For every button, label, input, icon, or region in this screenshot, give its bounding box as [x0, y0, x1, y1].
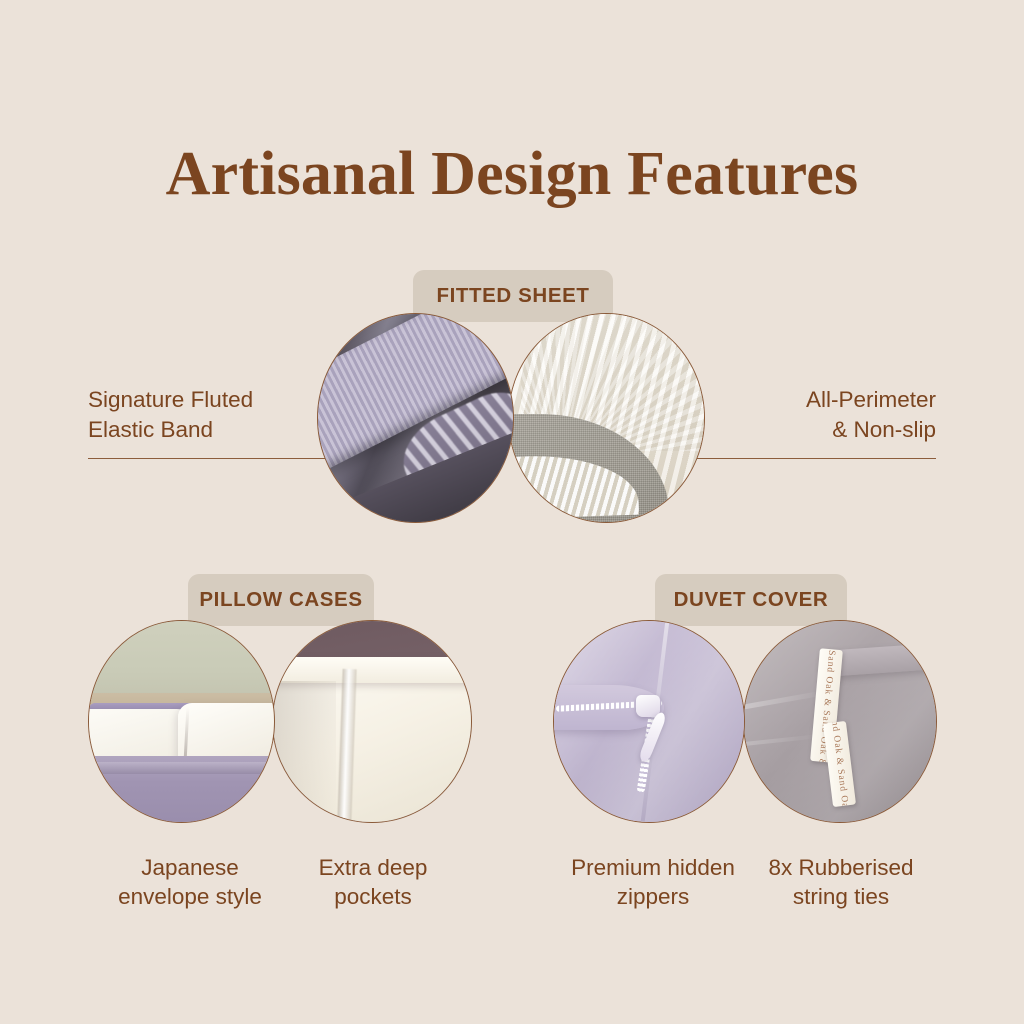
caption-premium-hidden-zippers: Premium hidden zippers [556, 853, 750, 911]
pillow-envelope-lip [272, 657, 472, 683]
photo-duvet-string-ties: Oak & Sand Oak & Sand Oak & Sand Oak & S… [743, 620, 937, 823]
pillow-shadow [273, 681, 336, 822]
photo-fitted-sheet-corner [508, 313, 705, 523]
photo-pillow-bed-scene [88, 620, 275, 823]
caption-all-perimeter-non-slip: All-Perimeter & Non-slip [691, 385, 936, 445]
badge-pillow-cases-label: PILLOW CASES [199, 588, 362, 612]
caption-extra-deep-pockets: Extra deep pockets [278, 853, 468, 911]
badge-duvet-cover: DUVET COVER [655, 574, 847, 626]
badge-fitted-sheet-label: FITTED SHEET [437, 284, 590, 308]
photo-fitted-sheet-elastic-band [317, 313, 514, 523]
badge-duvet-cover-label: DUVET COVER [674, 588, 829, 612]
badge-pillow-cases: PILLOW CASES [188, 574, 374, 626]
caption-japanese-envelope-style: Japanese envelope style [92, 853, 288, 911]
duvet-fold-line [89, 762, 274, 774]
photo-duvet-hidden-zipper [553, 620, 745, 823]
page-title: Artisanal Design Features [0, 139, 1024, 210]
caption-signature-fluted-elastic-band: Signature Fluted Elastic Band [88, 385, 333, 445]
photo-pillow-envelope-fold [272, 620, 472, 823]
infographic-canvas: Artisanal Design Features FITTED SHEET S… [0, 0, 1024, 1024]
caption-8x-rubberised-string-ties: 8x Rubberised string ties [742, 853, 940, 911]
